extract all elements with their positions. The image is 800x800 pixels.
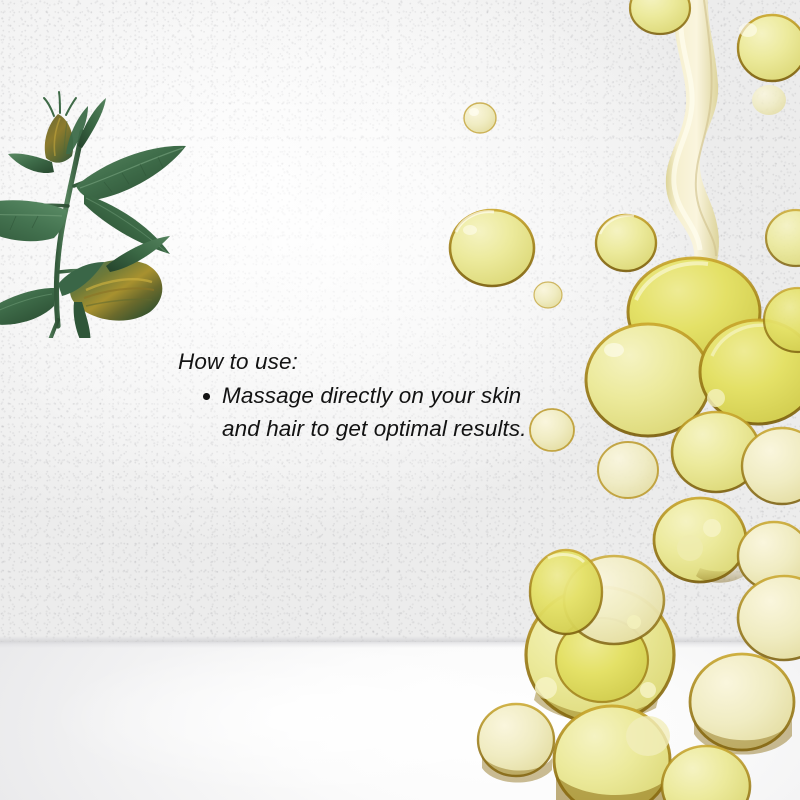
- oil-drop-cluster-right-7: [654, 498, 746, 583]
- slide-canvas: How to use: Massage directly on your ski…: [0, 0, 800, 800]
- list-item-text: Massage directly on your skin and hair t…: [222, 383, 527, 441]
- instruction-copy-block: How to use: Massage directly on your ski…: [178, 348, 548, 445]
- oil-drop-small-b: [534, 282, 562, 308]
- oil-drop-bottom-lower-1: [554, 706, 670, 800]
- list-item: Massage directly on your skin and hair t…: [178, 379, 548, 445]
- oil-drop-small-a: [464, 103, 496, 133]
- oil-drop-edge-right-mid: [766, 210, 800, 266]
- oil-drop-cluster-right-1: [596, 215, 656, 271]
- oil-drop-medium-a: [450, 210, 534, 286]
- oil-drop-bottom-right-1: [690, 654, 794, 755]
- oil-drop-cluster-right-9: [598, 442, 658, 498]
- page-title: How to use:: [178, 348, 548, 375]
- bullet-point-icon: [203, 393, 210, 400]
- oil-drop-upper-right-b: [752, 85, 786, 115]
- oil-drop-bottom-lower-2: [478, 704, 554, 783]
- oil-drop-bottom-lens: [530, 550, 602, 634]
- oil-drop-upper-right-a: [738, 15, 800, 81]
- oil-drop-bottom-right-2: [738, 576, 800, 660]
- instruction-list: Massage directly on your skin and hair t…: [178, 379, 548, 445]
